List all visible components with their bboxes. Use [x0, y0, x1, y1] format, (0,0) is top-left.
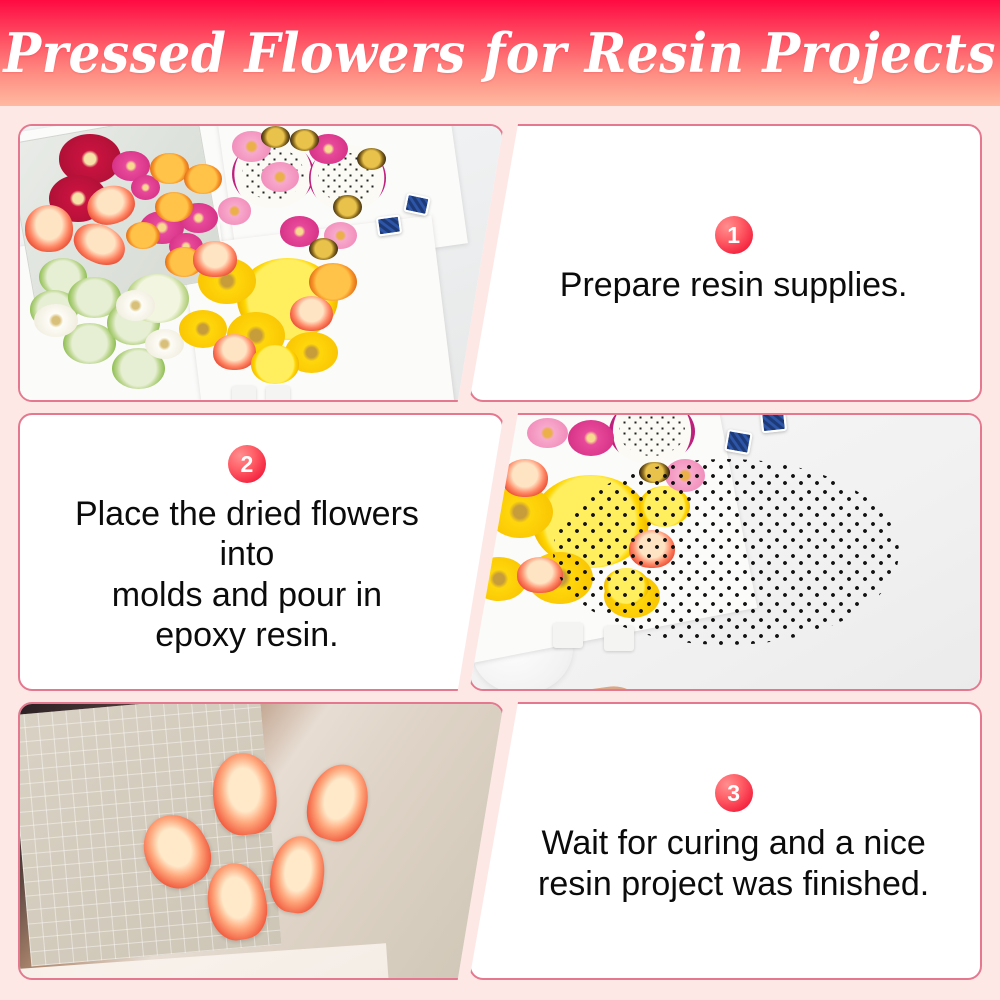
mold-tab: [604, 626, 635, 651]
mold-tab: [266, 386, 290, 400]
step-1-text-panel: 1 Prepare resin supplies.: [469, 124, 982, 402]
mold-tab: [232, 386, 256, 400]
glitter-cube: [760, 415, 788, 433]
glitter-cube: [375, 215, 402, 237]
step-3-text-panel: 3 Wait for curing and a nice resin proje…: [469, 702, 982, 980]
pressed-flower-pink: [568, 420, 614, 456]
glitter-cube: [724, 429, 753, 455]
dried-strawberry-slice: [265, 832, 328, 915]
pressed-strawberry: [213, 334, 256, 370]
infographic-poster: Pressed Flowers for Resin Projects: [0, 0, 1000, 1000]
pressed-flower-pink-light: [218, 197, 252, 224]
page-title: Pressed Flowers for Resin Projects: [4, 21, 997, 85]
pressed-passionfruit: [333, 195, 362, 220]
step-number-badge: 2: [228, 445, 266, 483]
step-row-3: 3 Wait for curing and a nice resin proje…: [18, 702, 982, 980]
step-number-badge: 3: [715, 774, 753, 812]
step-2-photo-panel: [469, 413, 982, 691]
step-2-text-panel: 2 Place the dried flowers into molds and…: [18, 413, 504, 691]
pressed-flower-white: [116, 290, 155, 320]
mold-filling-photo: [471, 415, 980, 689]
step-description: Wait for curing and a nice resin project…: [538, 823, 929, 903]
pressed-kumquat: [126, 222, 160, 249]
header-banner: Pressed Flowers for Resin Projects: [0, 0, 1000, 106]
step-number-badge: 1: [715, 216, 753, 254]
pressed-passionfruit: [290, 129, 319, 151]
pressed-flowers-photo: [20, 126, 502, 400]
pressed-kumquat: [155, 192, 194, 222]
pressed-strawberry: [290, 296, 333, 332]
steps-container: 1 Prepare resin supplies. 2 Place the dr…: [0, 106, 1000, 1000]
step-description: Place the dried flowers into molds and p…: [50, 494, 444, 654]
pressed-strawberry: [502, 459, 548, 497]
finished-resin-photo: [20, 704, 502, 978]
dried-strawberry-slice: [300, 758, 377, 848]
pressed-lemon: [251, 345, 299, 383]
pressed-passionfruit: [357, 148, 386, 170]
step-description: Prepare resin supplies.: [560, 265, 908, 305]
step-3-photo-panel: [18, 702, 504, 980]
pressed-strawberry: [193, 241, 236, 277]
pressed-passionfruit: [261, 126, 290, 148]
step-row-1: 1 Prepare resin supplies.: [18, 124, 982, 402]
pressed-flower-pink-light: [527, 418, 568, 448]
pressed-kumquat: [150, 153, 189, 183]
mold-tab: [553, 623, 584, 648]
pressed-flower-white: [34, 304, 77, 337]
pressed-flower-white: [145, 329, 184, 359]
pressed-flower-pink-light: [261, 162, 300, 192]
step-row-2: 2 Place the dried flowers into molds and…: [18, 413, 982, 691]
pressed-strawberry: [25, 205, 73, 252]
step-1-photo-panel: [18, 124, 504, 402]
